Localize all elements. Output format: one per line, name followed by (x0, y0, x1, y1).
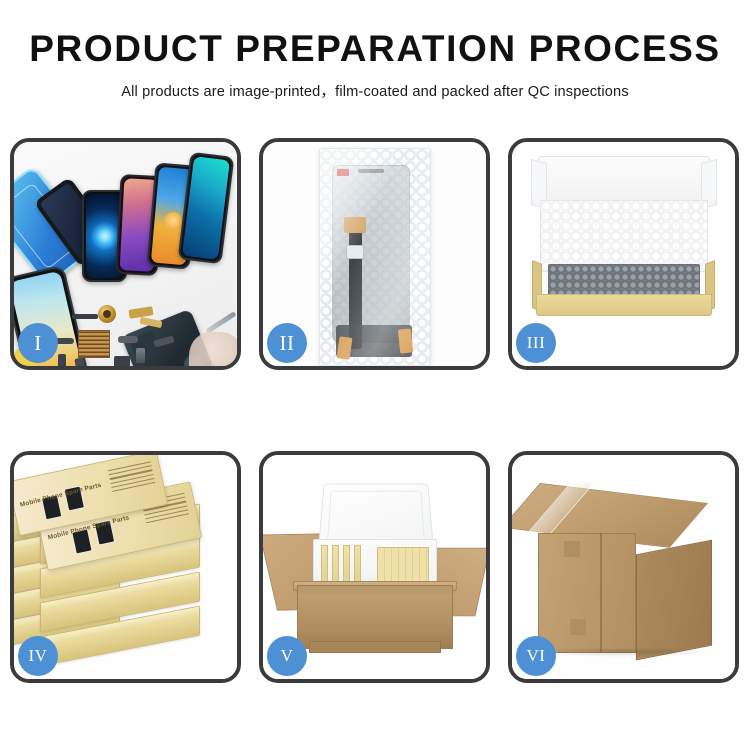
bubble-wrapped-contents (548, 264, 700, 298)
spec-text-lines (108, 461, 157, 499)
carton-ground-shadow (532, 647, 712, 657)
carton-bottom-edge (309, 641, 441, 653)
bubble-wrap-bag (319, 148, 431, 366)
film-sheen (320, 149, 430, 365)
white-foam-padding (540, 200, 708, 272)
carton-flap-mark-lower (570, 619, 586, 635)
process-step-grid: I II (10, 138, 740, 683)
process-step-1: I (10, 138, 241, 370)
step-badge-4: IV (18, 636, 58, 676)
page-subtitle: All products are image-printed，film-coat… (0, 80, 750, 101)
vibration-motor (118, 336, 138, 343)
wireless-charging-coil (98, 305, 116, 323)
kraft-box-front-panel (536, 294, 712, 316)
step-badge-6: VI (516, 636, 556, 676)
carton-side-face (636, 540, 712, 661)
carton-front-face (538, 533, 636, 653)
process-step-4: Mobile Phone Spare Parts Mobile Phone Sp… (10, 451, 241, 683)
process-step-5: V (259, 451, 490, 683)
box-print-label: Mobile Phone Spare Parts (19, 482, 102, 509)
step-badge-3: III (516, 323, 556, 363)
flex-cable-small (72, 314, 98, 319)
battery-connector (136, 348, 145, 363)
carton-body (297, 585, 453, 649)
infographic-page: PRODUCT PREPARATION PROCESS All products… (0, 0, 750, 750)
header: PRODUCT PREPARATION PROCESS All products… (0, 0, 750, 101)
carton-corner-seam (600, 533, 602, 653)
step-badge-5: V (267, 636, 307, 676)
speaker-mesh-grille (78, 330, 110, 358)
loudspeaker-module (114, 356, 130, 366)
process-step-3: III (508, 138, 739, 370)
volume-button-flex (58, 354, 66, 366)
foam-sheet-upright (538, 156, 710, 206)
step-badge-2: II (267, 323, 307, 363)
process-step-2: II (259, 138, 490, 370)
technician-hand (189, 332, 237, 366)
carton-flap-mark-upper (564, 541, 580, 557)
step-badge-1: I (18, 323, 58, 363)
page-title: PRODUCT PREPARATION PROCESS (0, 30, 750, 69)
process-step-6: VI (508, 451, 739, 683)
